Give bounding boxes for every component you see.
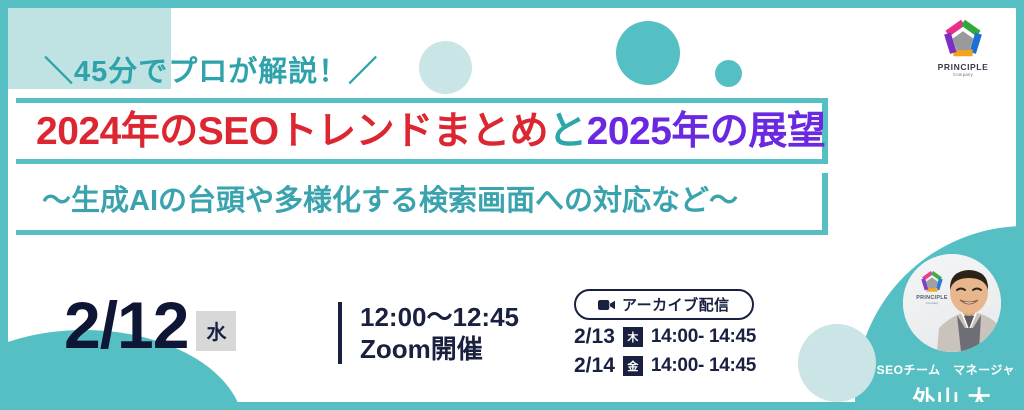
title-part-3: 2025年の展望	[587, 110, 826, 153]
pentagon-logo-icon	[940, 18, 986, 62]
logo-subword: Company	[953, 72, 973, 77]
archive-section: アーカイブ配信 2/13 木 14:00- 14:45 2/14 金 14:00…	[574, 289, 756, 378]
decor-circle-teal-1	[616, 21, 680, 85]
decor-circle-teal-small	[715, 60, 742, 87]
archive-row: 2/14 金 14:00- 14:45	[574, 354, 756, 378]
principle-logo: PRINCIPLE Company	[932, 18, 994, 80]
logo-wordmark: PRINCIPLE	[938, 63, 989, 72]
page-subtitle: 〜生成AIの台頭や多様化する検索画面への対応など〜	[16, 187, 738, 216]
title-box: 2024年のSEOトレンドまとめと2025年の展望	[16, 98, 828, 164]
archive-date: 2/13	[574, 325, 615, 349]
archive-row: 2/13 木 14:00- 14:45	[574, 325, 756, 349]
title-part-2: と	[548, 110, 587, 153]
speaker-name: 外山 大	[912, 380, 991, 402]
title-part-1: 2024年のSEOトレンドまとめ	[36, 110, 548, 153]
event-date-dow-badge: 水	[196, 311, 236, 351]
video-camera-icon	[598, 299, 615, 311]
archive-date: 2/14	[574, 354, 615, 378]
webinar-banner: PRINCIPLE Company ＼45分でプロが解説！／ 2024年のSEO…	[0, 0, 1024, 410]
event-time: 12:00〜12:45 Zoom開催	[338, 302, 519, 364]
archive-dow-badge: 木	[623, 327, 643, 347]
archive-dow-badge: 金	[623, 356, 643, 376]
speaker-role: SEOチーム マネージャー	[877, 361, 1016, 378]
archive-badge: アーカイブ配信	[574, 289, 754, 320]
speaker-card: PRINCIPLE Company	[882, 254, 1016, 402]
banner-inner-canvas: PRINCIPLE Company ＼45分でプロが解説！／ 2024年のSEO…	[8, 8, 1016, 402]
speaker-avatar: PRINCIPLE Company	[903, 254, 1001, 352]
decor-circle-light-2	[798, 324, 876, 402]
event-time-range: 12:00〜12:45	[360, 301, 519, 334]
speaker-portrait	[933, 266, 1001, 352]
archive-time: 14:00- 14:45	[651, 355, 756, 377]
kicker-text: ＼45分でプロが解説！／	[44, 48, 378, 90]
event-date: 2/12 水	[64, 294, 236, 357]
page-title: 2024年のSEOトレンドまとめと2025年の展望	[16, 112, 825, 151]
event-platform: Zoom開催	[360, 333, 519, 366]
subtitle-box: 〜生成AIの台頭や多様化する検索画面への対応など〜	[16, 173, 828, 235]
archive-badge-label: アーカイブ配信	[622, 294, 730, 315]
archive-time: 14:00- 14:45	[651, 326, 756, 348]
event-date-value: 2/12	[64, 294, 188, 357]
decor-circle-light-1	[419, 41, 472, 94]
